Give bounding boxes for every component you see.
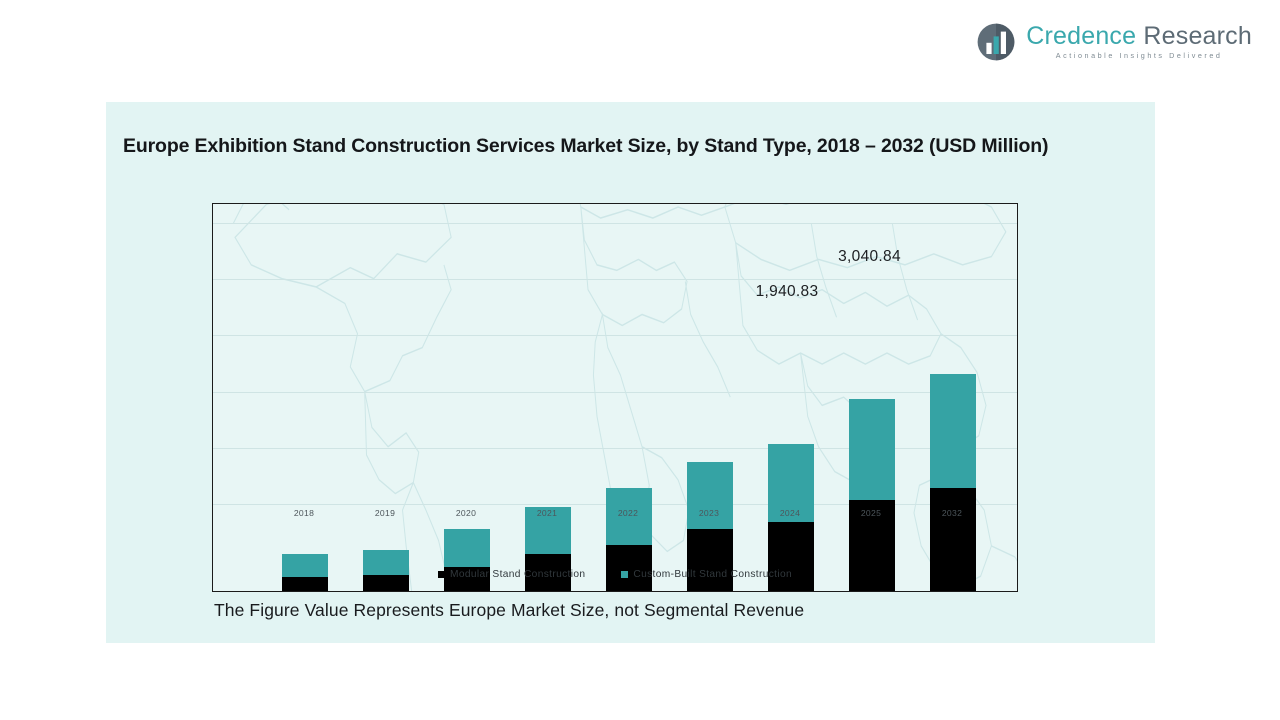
chart-footnote: The Figure Value Represents Europe Marke… <box>214 600 804 621</box>
legend-swatch-custom-icon <box>621 571 628 578</box>
chart-legend: Modular Stand Construction Custom-Built … <box>212 569 1018 580</box>
x-tick-2019: 2019 <box>375 508 395 518</box>
bar-segment-modular-2024[interactable] <box>768 522 814 591</box>
legend-item-custom[interactable]: Custom-Built Stand Construction <box>621 569 792 580</box>
chart-panel: Europe Exhibition Stand Construction Ser… <box>106 102 1155 643</box>
data-label-2025: 1,940.83 <box>732 283 842 301</box>
chart-title: Europe Exhibition Stand Construction Ser… <box>123 135 1143 158</box>
bar-group-2025[interactable] <box>849 399 895 591</box>
bar-group-2032[interactable] <box>930 374 976 591</box>
brand-tagline: Actionable Insights Delivered <box>1026 52 1252 59</box>
x-tick-2022: 2022 <box>618 508 638 518</box>
brand-logo: Credence Research Actionable Insights De… <box>976 22 1252 62</box>
x-tick-2025: 2025 <box>861 508 881 518</box>
x-tick-2018: 2018 <box>294 508 314 518</box>
bar-segment-custom-2020[interactable] <box>444 529 490 567</box>
x-axis-labels: 2018 2019 2020 2021 2022 2023 2024 2025 … <box>212 508 1018 524</box>
bar-segment-custom-2025[interactable] <box>849 399 895 500</box>
bar-segment-modular-2023[interactable] <box>687 529 733 591</box>
legend-item-modular[interactable]: Modular Stand Construction <box>438 569 585 580</box>
brand-name: Credence Research <box>1026 24 1252 49</box>
brand-name-first: Credence <box>1026 22 1136 50</box>
x-tick-2023: 2023 <box>699 508 719 518</box>
brand-name-second: Research <box>1143 22 1252 50</box>
data-label-2032: 3,040.84 <box>812 248 927 266</box>
legend-label-modular: Modular Stand Construction <box>450 569 585 580</box>
x-tick-2024: 2024 <box>780 508 800 518</box>
bar-chart-circle-icon <box>976 22 1016 62</box>
bar-group-2020[interactable] <box>444 529 490 591</box>
legend-label-custom: Custom-Built Stand Construction <box>633 569 792 580</box>
x-tick-2020: 2020 <box>456 508 476 518</box>
bar-segment-custom-2032[interactable] <box>930 374 976 488</box>
x-tick-2021: 2021 <box>537 508 557 518</box>
bar-segment-modular-2022[interactable] <box>606 545 652 591</box>
x-tick-2032: 2032 <box>942 508 962 518</box>
legend-swatch-modular-icon <box>438 571 445 578</box>
